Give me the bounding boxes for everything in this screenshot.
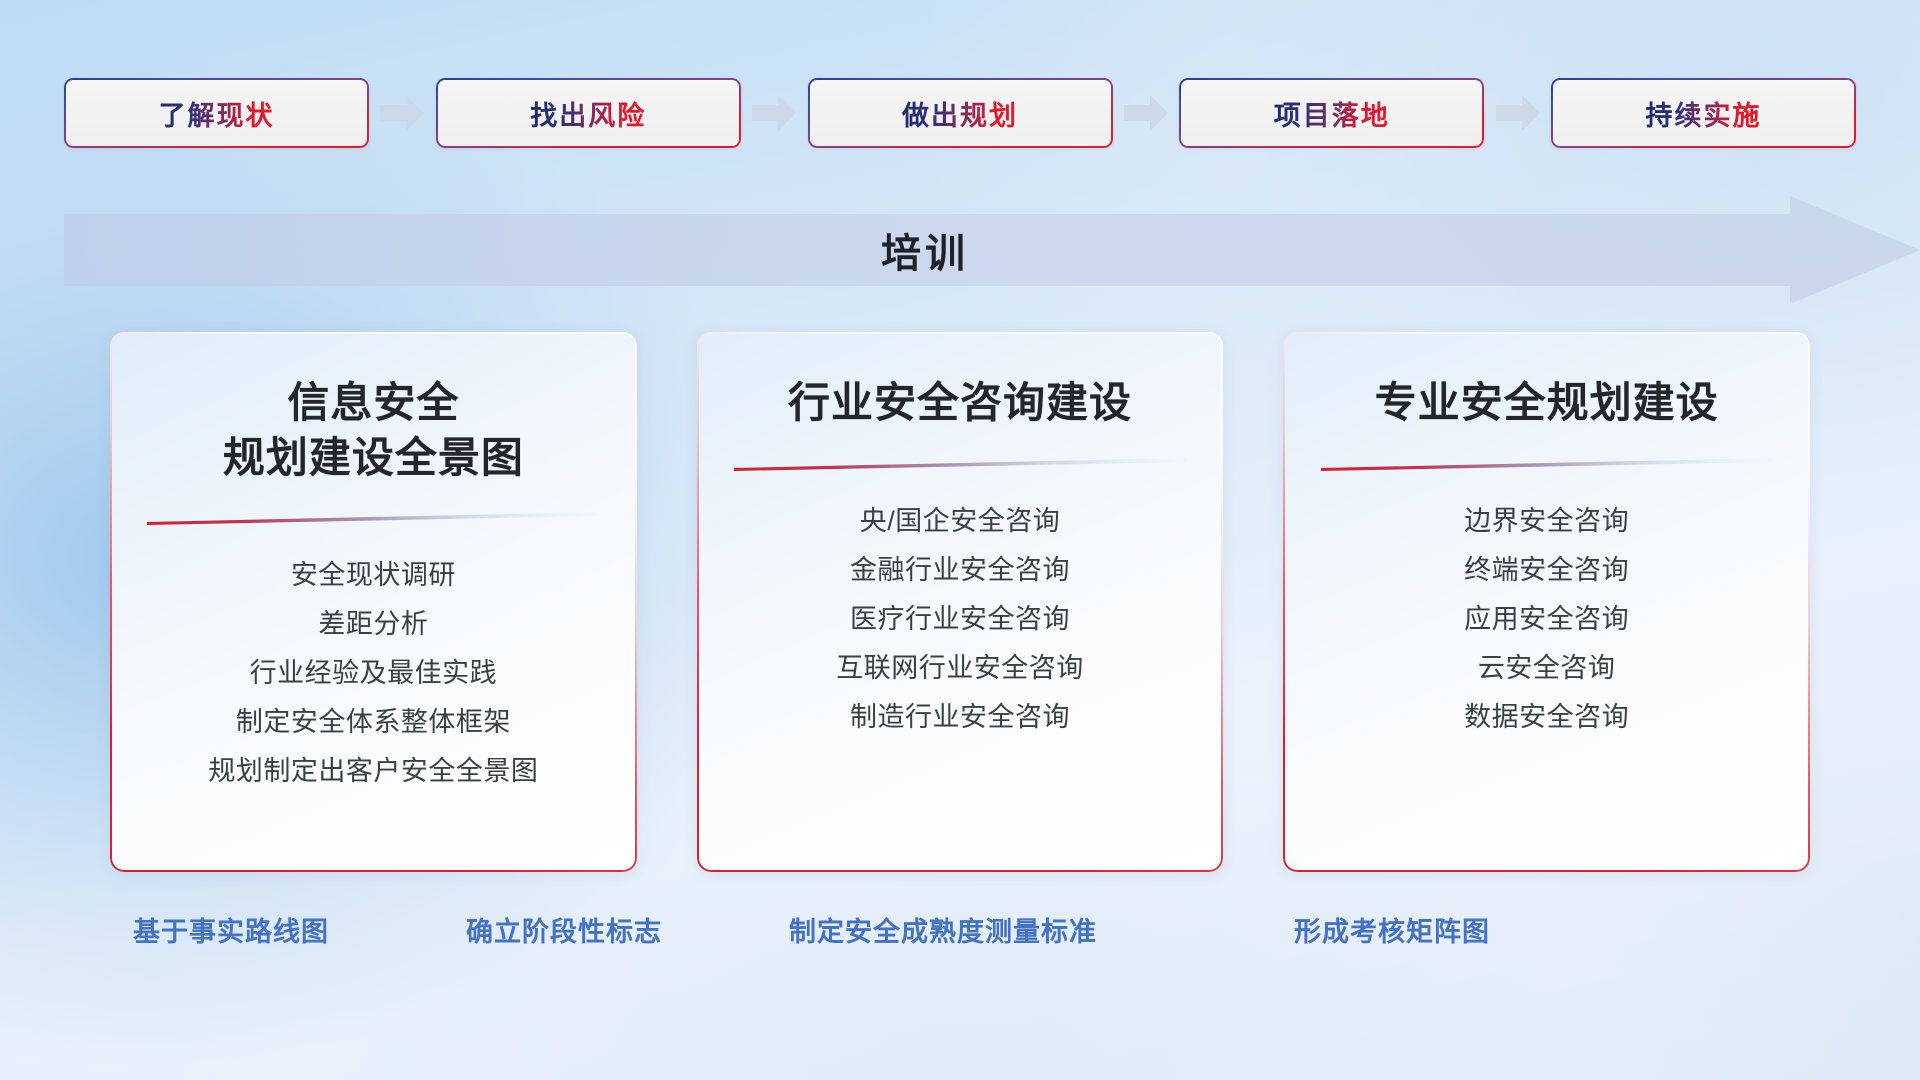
process-stepper: 了解现状 找出风险 做出规划 项目落地 持续实施	[64, 78, 1856, 148]
step-label: 找出风险	[530, 94, 646, 133]
list-item: 金融行业安全咨询	[725, 546, 1196, 595]
right-arrow-icon	[1113, 93, 1180, 133]
list-item: 行业经验及最佳实践	[138, 649, 609, 698]
right-arrow-icon	[369, 93, 436, 133]
list-item: 应用安全咨询	[1311, 595, 1782, 644]
list-item: 规划制定出客户安全全景图	[138, 747, 609, 796]
step-label: 做出规划	[902, 94, 1018, 133]
list-item: 医疗行业安全咨询	[725, 595, 1196, 644]
step-button-2[interactable]: 找出风险	[436, 78, 741, 148]
list-item: 安全现状调研	[138, 551, 609, 600]
caption-row: 基于事实路线图 确立阶段性标志 制定安全成熟度测量标准 形成考核矩阵图	[0, 910, 1920, 966]
card-divider	[147, 511, 599, 525]
card-item-list: 安全现状调研 差距分析 行业经验及最佳实践 制定安全体系整体框架 规划制定出客户…	[138, 551, 609, 796]
card-industry-security-consulting[interactable]: 行业安全咨询建设 央/国企安全咨询 金融行业安全咨询 医疗行业安全咨询	[697, 332, 1224, 872]
caption-milestones: 确立阶段性标志	[466, 910, 662, 949]
list-item: 制造行业安全咨询	[725, 693, 1196, 742]
card-row: 信息安全 规划建设全景图 安全现状调研 差距分析 行业经验及最佳实践	[110, 332, 1810, 872]
list-item: 云安全咨询	[1311, 644, 1782, 693]
right-arrow-icon	[741, 93, 808, 133]
step-label: 了解现状	[159, 94, 275, 133]
banner-title: 培训	[0, 196, 1850, 304]
list-item: 差距分析	[138, 600, 609, 649]
card-professional-security-planning[interactable]: 专业安全规划建设 边界安全咨询 终端安全咨询 应用安全咨询 云安全	[1283, 332, 1810, 872]
training-banner: 培训	[0, 196, 1920, 304]
step-button-5[interactable]: 持续实施	[1551, 78, 1856, 148]
step-button-1[interactable]: 了解现状	[64, 78, 369, 148]
list-item: 制定安全体系整体框架	[138, 698, 609, 747]
list-item: 边界安全咨询	[1311, 497, 1782, 546]
caption-roadmap: 基于事实路线图	[133, 910, 329, 949]
card-divider	[734, 457, 1186, 471]
step-button-3[interactable]: 做出规划	[808, 78, 1113, 148]
list-item: 互联网行业安全咨询	[725, 644, 1196, 693]
list-item: 数据安全咨询	[1311, 693, 1782, 742]
caption-maturity: 制定安全成熟度测量标准	[789, 910, 1097, 949]
list-item: 央/国企安全咨询	[725, 497, 1196, 546]
caption-matrix: 形成考核矩阵图	[1294, 910, 1490, 949]
card-title: 信息安全 规划建设全景图	[223, 376, 524, 485]
card-divider	[1321, 457, 1773, 471]
card-item-list: 央/国企安全咨询 金融行业安全咨询 医疗行业安全咨询 互联网行业安全咨询 制造行…	[725, 497, 1196, 742]
step-button-4[interactable]: 项目落地	[1179, 78, 1484, 148]
list-item: 终端安全咨询	[1311, 546, 1782, 595]
card-title: 专业安全规划建设	[1375, 376, 1719, 431]
card-title: 行业安全咨询建设	[788, 376, 1132, 431]
step-label: 项目落地	[1274, 94, 1390, 133]
card-item-list: 边界安全咨询 终端安全咨询 应用安全咨询 云安全咨询 数据安全咨询	[1311, 497, 1782, 742]
card-information-security-blueprint[interactable]: 信息安全 规划建设全景图 安全现状调研 差距分析 行业经验及最佳实践	[110, 332, 637, 872]
right-arrow-icon	[1484, 93, 1551, 133]
step-label: 持续实施	[1646, 94, 1762, 133]
